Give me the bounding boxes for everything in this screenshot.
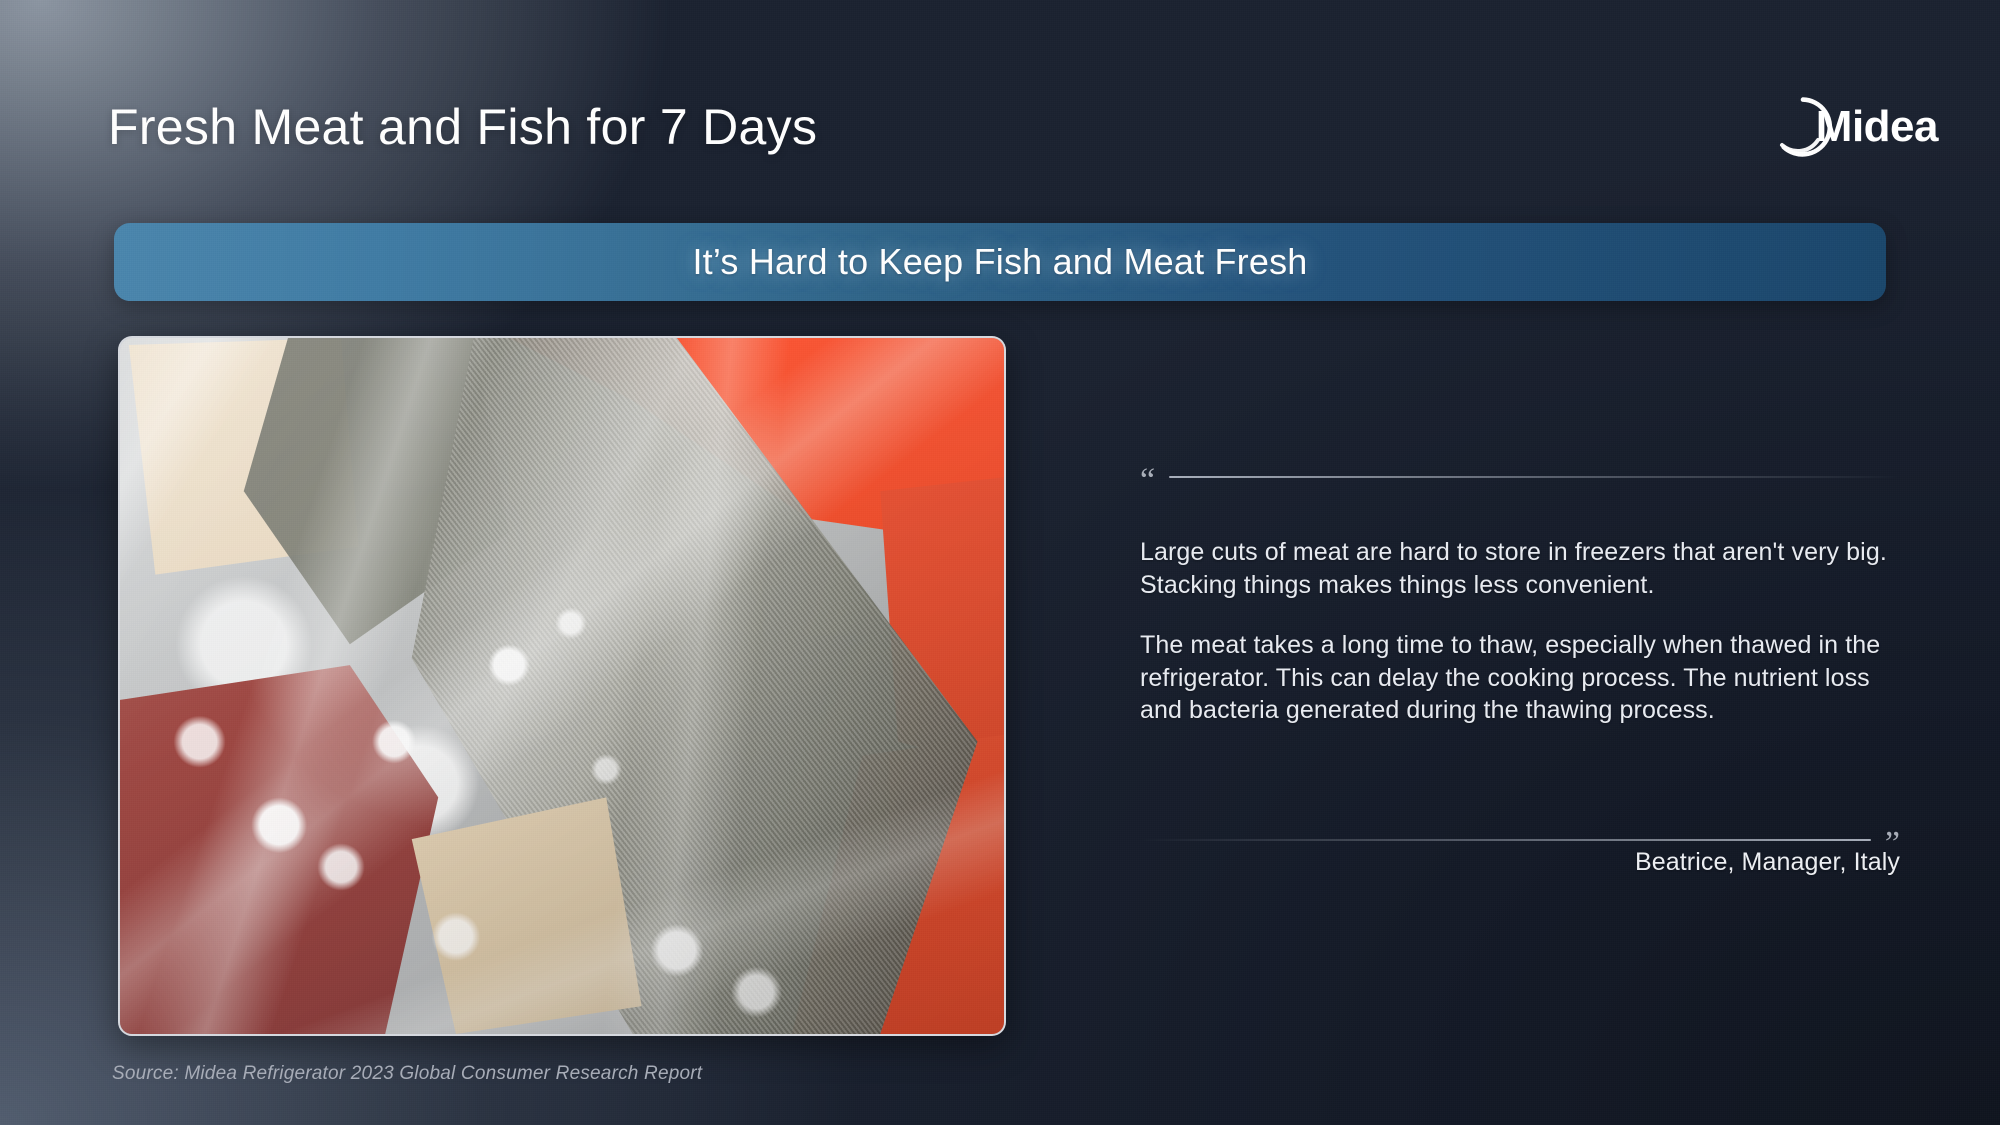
quote-attribution: Beatrice, Manager, Italy (1635, 848, 1900, 877)
frozen-food-photo (118, 336, 1006, 1036)
page-title: Fresh Meat and Fish for 7 Days (108, 98, 817, 156)
customer-quote-panel: “ Large cuts of meat are hard to store i… (1140, 460, 1900, 857)
quote-open-divider (1169, 476, 1900, 478)
section-banner: It’s Hard to Keep Fish and Meat Fresh (114, 223, 1886, 301)
midea-wordmark: Midea (1816, 105, 1938, 149)
quote-close-divider (1140, 839, 1871, 841)
source-footnote: Source: Midea Refrigerator 2023 Global C… (112, 1063, 702, 1085)
quote-paragraph-1: Large cuts of meat are hard to store in … (1140, 536, 1900, 601)
photo-shading-overlay (120, 338, 1004, 1034)
slide-canvas: Fresh Meat and Fish for 7 Days Midea It’… (0, 0, 2000, 1125)
quote-body: Large cuts of meat are hard to store in … (1140, 536, 1900, 727)
midea-logo: Midea (1770, 98, 1938, 156)
quote-open-rule-row: “ (1140, 460, 1900, 494)
section-banner-label: It’s Hard to Keep Fish and Meat Fresh (692, 241, 1307, 283)
quote-open-icon: “ (1140, 464, 1155, 498)
quote-paragraph-2: The meat takes a long time to thaw, espe… (1140, 629, 1900, 727)
